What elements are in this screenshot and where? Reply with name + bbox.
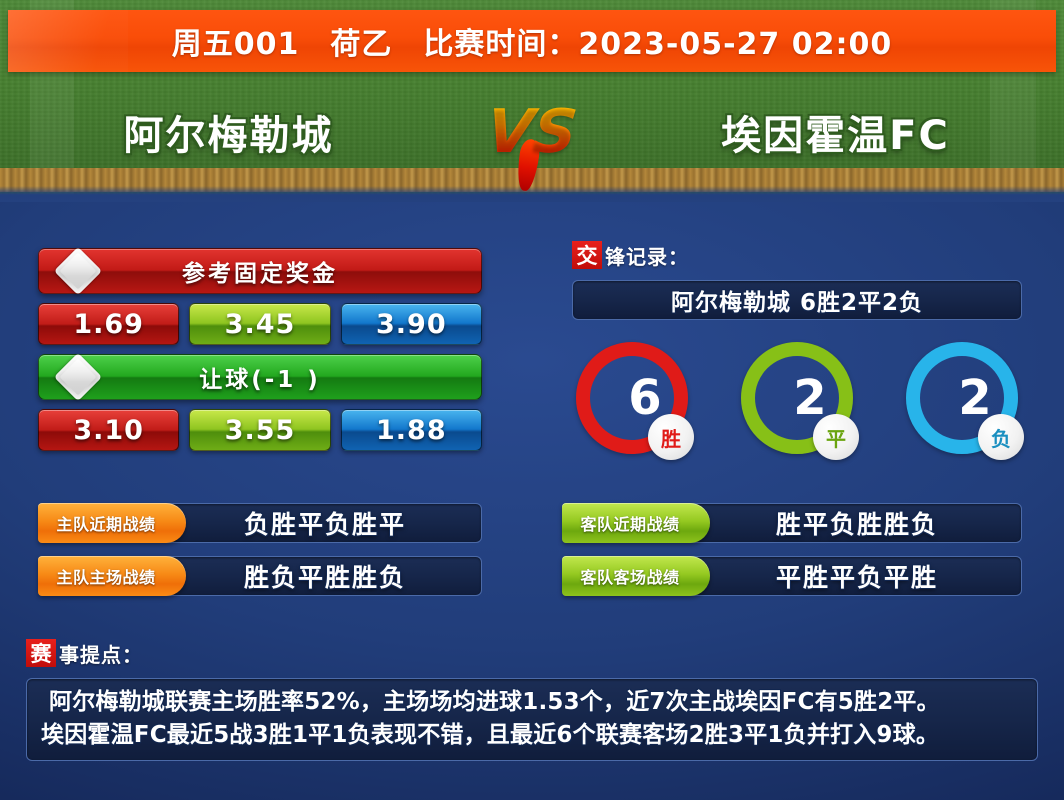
analysis-badge-icon: 赛 bbox=[26, 639, 56, 667]
fixed-odds-row: 1.69 3.45 3.90 bbox=[38, 303, 482, 345]
away-form-section: 客队近期战绩 胜平负胜胜负 客队客场战绩 平胜平负平胜 bbox=[562, 503, 1022, 609]
h2h-heading: 交 锋记录： bbox=[572, 240, 1022, 270]
away-recent-form-tab: 客队近期战绩 bbox=[562, 503, 710, 543]
banner-fade bbox=[0, 186, 1064, 202]
handicap-odds-row: 3.10 3.55 1.88 bbox=[38, 409, 482, 451]
home-recent-form-value: 负胜平负胜平 bbox=[186, 505, 482, 541]
analysis-heading-text: 事提点： bbox=[59, 639, 143, 668]
diamond-icon bbox=[54, 353, 102, 401]
fixed-odds-title: 参考固定奖金 bbox=[182, 254, 338, 288]
home-team-name: 阿尔梅勒城 bbox=[0, 103, 457, 161]
away-away-form-tab: 客队客场战绩 bbox=[562, 556, 710, 596]
h2h-summary: 阿尔梅勒城 6胜2平2负 bbox=[572, 280, 1022, 320]
away-away-form-row: 客队客场战绩 平胜平负平胜 bbox=[562, 556, 1022, 596]
match-preview-page: 周五001 荷乙 比赛时间：2023-05-27 02:00 阿尔梅勒城 VS … bbox=[0, 0, 1064, 800]
home-home-form-tab: 主队主场战绩 bbox=[38, 556, 186, 596]
vs-label: VS bbox=[483, 97, 580, 167]
handicap-header: 让球(-1 ) bbox=[38, 354, 482, 400]
away-team-name: 埃因霍温FC bbox=[607, 103, 1064, 161]
analysis-heading: 赛 事提点： bbox=[26, 638, 1038, 668]
away-away-form-value: 平胜平负平胜 bbox=[710, 558, 1022, 594]
handicap-title: 让球(-1 ) bbox=[199, 360, 321, 394]
analysis-box: 阿尔梅勒城联赛主场胜率52%，主场场均进球1.53个，近7次主战埃因FC有5胜2… bbox=[26, 678, 1038, 761]
analysis-section: 赛 事提点： 阿尔梅勒城联赛主场胜率52%，主场场均进球1.53个，近7次主战埃… bbox=[26, 638, 1038, 761]
vs-emblem: VS bbox=[457, 77, 607, 187]
odds-panel: 参考固定奖金 1.69 3.45 3.90 让球(-1 ) 3.10 3.55 … bbox=[38, 248, 482, 460]
home-recent-form-tab: 主队近期战绩 bbox=[38, 503, 186, 543]
analysis-line: 埃因霍温FC最近5战3胜1平1负表现不错，且最近6个联赛客场2胜3平1负并打入9… bbox=[41, 719, 1023, 752]
analysis-line: 阿尔梅勒城联赛主场胜率52%，主场场均进球1.53个，近7次主战埃因FC有5胜2… bbox=[41, 686, 1023, 719]
fixed-odds-header: 参考固定奖金 bbox=[38, 248, 482, 294]
odds-away-win[interactable]: 3.90 bbox=[341, 303, 482, 345]
h2h-rings: 6 胜 2 平 2 负 bbox=[572, 342, 1022, 454]
h2h-ring-draw: 2 平 bbox=[741, 342, 853, 454]
diamond-icon bbox=[54, 247, 102, 295]
teams-row: 阿尔梅勒城 VS 埃因霍温FC bbox=[0, 96, 1064, 168]
handicap-home-win[interactable]: 3.10 bbox=[38, 409, 179, 451]
home-home-form-value: 胜负平胜胜负 bbox=[186, 558, 482, 594]
h2h-badge-icon: 交 bbox=[572, 241, 602, 269]
stadium-banner: 周五001 荷乙 比赛时间：2023-05-27 02:00 阿尔梅勒城 VS … bbox=[0, 0, 1064, 200]
h2h-lose-label: 负 bbox=[978, 414, 1024, 460]
handicap-draw[interactable]: 3.55 bbox=[189, 409, 330, 451]
odds-draw[interactable]: 3.45 bbox=[189, 303, 330, 345]
handicap-away-win[interactable]: 1.88 bbox=[341, 409, 482, 451]
home-home-form-row: 主队主场战绩 胜负平胜胜负 bbox=[38, 556, 482, 596]
away-recent-form-row: 客队近期战绩 胜平负胜胜负 bbox=[562, 503, 1022, 543]
header-title-bar: 周五001 荷乙 比赛时间：2023-05-27 02:00 bbox=[8, 10, 1056, 72]
head-to-head-section: 交 锋记录： 阿尔梅勒城 6胜2平2负 6 胜 2 平 2 负 bbox=[572, 240, 1022, 454]
odds-home-win[interactable]: 1.69 bbox=[38, 303, 179, 345]
h2h-heading-text: 锋记录： bbox=[605, 241, 689, 270]
page-title: 周五001 荷乙 比赛时间：2023-05-27 02:00 bbox=[172, 19, 892, 63]
home-form-section: 主队近期战绩 负胜平负胜平 主队主场战绩 胜负平胜胜负 bbox=[38, 503, 482, 609]
h2h-draw-label: 平 bbox=[813, 414, 859, 460]
h2h-ring-lose: 2 负 bbox=[906, 342, 1018, 454]
away-recent-form-value: 胜平负胜胜负 bbox=[710, 505, 1022, 541]
home-recent-form-row: 主队近期战绩 负胜平负胜平 bbox=[38, 503, 482, 543]
h2h-win-label: 胜 bbox=[648, 414, 694, 460]
h2h-ring-win: 6 胜 bbox=[576, 342, 688, 454]
